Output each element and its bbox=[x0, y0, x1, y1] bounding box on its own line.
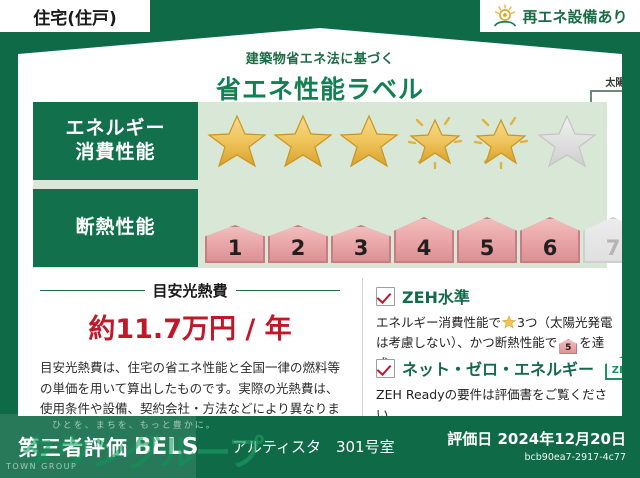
rule-right bbox=[236, 290, 341, 291]
insulation-level-3: 3 bbox=[331, 238, 391, 263]
net-zero-title: ネット・ゼロ・エネルギー bbox=[402, 356, 594, 380]
insulation-level-5: 5 bbox=[457, 238, 517, 263]
star-filled-2 bbox=[271, 110, 335, 172]
star-filled-3 bbox=[337, 110, 401, 172]
card-title-block: 建築物省エネ法に基づく 省エネ性能ラベル bbox=[18, 48, 622, 106]
zeh-standard-checkbox bbox=[376, 287, 395, 306]
insulation-label-text: 断熱性能 bbox=[75, 216, 155, 240]
insulation-level-2: 2 bbox=[268, 238, 328, 263]
insulation-level-number: 4 bbox=[417, 238, 432, 259]
solar-generation-bracket: 太陽光発電(自家消費)分 bbox=[590, 78, 640, 102]
evaluation-date-block: 評価日 2024年12月20日 bcb90ea7-2917-4c77 bbox=[447, 428, 626, 463]
card-subtitle: 建築物省エネ法に基づく bbox=[18, 48, 622, 67]
zeh-text-part1: エネルギー消費性能で bbox=[376, 315, 501, 330]
insulation-level-7: 7 bbox=[583, 238, 640, 263]
insulation-performance-label: 断熱性能 bbox=[33, 189, 198, 267]
performance-panel: エネルギー 消費性能 bbox=[33, 102, 607, 268]
zeh-standard-header: ZEH水準 bbox=[376, 284, 614, 308]
renewable-energy-label: 再エネ設備あり bbox=[522, 6, 627, 27]
renewable-energy-badge: 再エネ設備あり bbox=[480, 0, 640, 32]
inline-star-icon bbox=[502, 315, 516, 329]
utility-cost-heading: 目安光熱費 bbox=[40, 280, 340, 301]
dwelling-type-badge: 住宅(住戸) bbox=[0, 0, 150, 32]
net-zero-energy-block: ネット・ゼロ・エネルギー ZEH ZEH Ready ZEH Readyの要件は… bbox=[376, 356, 614, 425]
solar-sun-icon bbox=[492, 4, 518, 28]
evaluation-date: 評価日 2024年12月20日 bbox=[447, 428, 626, 449]
insulation-level-number: 3 bbox=[354, 238, 369, 259]
watermark-tagline: ひとを、まちを、もっと豊かに。 bbox=[52, 418, 217, 431]
insulation-level-number: 5 bbox=[480, 238, 495, 259]
inline-insulation-badge: 5 bbox=[559, 339, 577, 354]
utility-cost-title: 目安光熱費 bbox=[153, 280, 228, 301]
evaluation-id: bcb90ea7-2917-4c77 bbox=[447, 452, 626, 463]
label-card: 建築物省エネ法に基づく 省エネ性能ラベル エネルギー 消費性能 bbox=[18, 28, 622, 416]
utility-cost-block: 目安光熱費 約11.7万円 / 年 bbox=[40, 280, 340, 346]
insulation-level-number: 7 bbox=[606, 238, 621, 259]
energy-performance-row: エネルギー 消費性能 bbox=[33, 102, 607, 180]
energy-star-rating: 太陽光発電(自家消費)分 bbox=[205, 104, 599, 178]
footer-bar: 第三者評価 BELS アルティスタ 301号室 評価日 2024年12月20日 … bbox=[0, 416, 640, 478]
insulation-level-1: 1 bbox=[205, 238, 265, 263]
third-party-evaluation-label: 第三者評価 bbox=[18, 432, 128, 462]
insulation-level-scale: 1 2 3 4 5 bbox=[205, 193, 599, 263]
star-empty-6 bbox=[535, 110, 599, 172]
insulation-level-4: 4 bbox=[394, 238, 454, 263]
utility-cost-value: 約11.7万円 / 年 bbox=[40, 307, 340, 346]
bels-logo-text: BELS bbox=[134, 434, 198, 460]
property-name: アルティスタ 301号室 bbox=[232, 436, 395, 457]
rule-left bbox=[40, 290, 145, 291]
insulation-level-number: 1 bbox=[228, 238, 243, 259]
energy-label-line2: 消費性能 bbox=[75, 141, 155, 165]
watermark-brand-en: TOWN GROUP bbox=[6, 462, 77, 471]
insulation-performance-row: 断熱性能 1 2 3 bbox=[33, 189, 607, 267]
zeh-house-icon: ZEH bbox=[605, 356, 640, 380]
insulation-level-number: 2 bbox=[291, 238, 306, 259]
net-zero-checkbox bbox=[376, 359, 395, 378]
dwelling-type-label: 住宅(住戸) bbox=[33, 4, 117, 29]
insulation-level-6: 6 bbox=[520, 238, 580, 263]
energy-label-line1: エネルギー bbox=[65, 117, 165, 141]
insulation-level-number: 6 bbox=[543, 238, 558, 259]
page-title: 省エネ性能ラベル bbox=[18, 70, 622, 106]
energy-performance-label: エネルギー 消費性能 bbox=[33, 102, 198, 180]
net-zero-header: ネット・ゼロ・エネルギー ZEH ZEH Ready bbox=[376, 356, 614, 380]
zeh-standard-title: ZEH水準 bbox=[402, 284, 470, 308]
star-filled-1 bbox=[205, 110, 269, 172]
solar-generation-label: 太陽光発電(自家消費)分 bbox=[590, 74, 640, 89]
bracket-line bbox=[590, 90, 640, 102]
label-root: 住宅(住戸) 再エネ設備あり 建築物省エネ法に基づく 省エネ性能ラベル bbox=[0, 0, 640, 478]
star-filled-solar-4 bbox=[403, 110, 467, 172]
vertical-divider bbox=[362, 278, 363, 424]
zeh-logo: ZEH ZEH Ready bbox=[605, 356, 640, 380]
third-party-evaluation: 第三者評価 BELS bbox=[18, 432, 198, 462]
star-filled-solar-5 bbox=[469, 110, 533, 172]
